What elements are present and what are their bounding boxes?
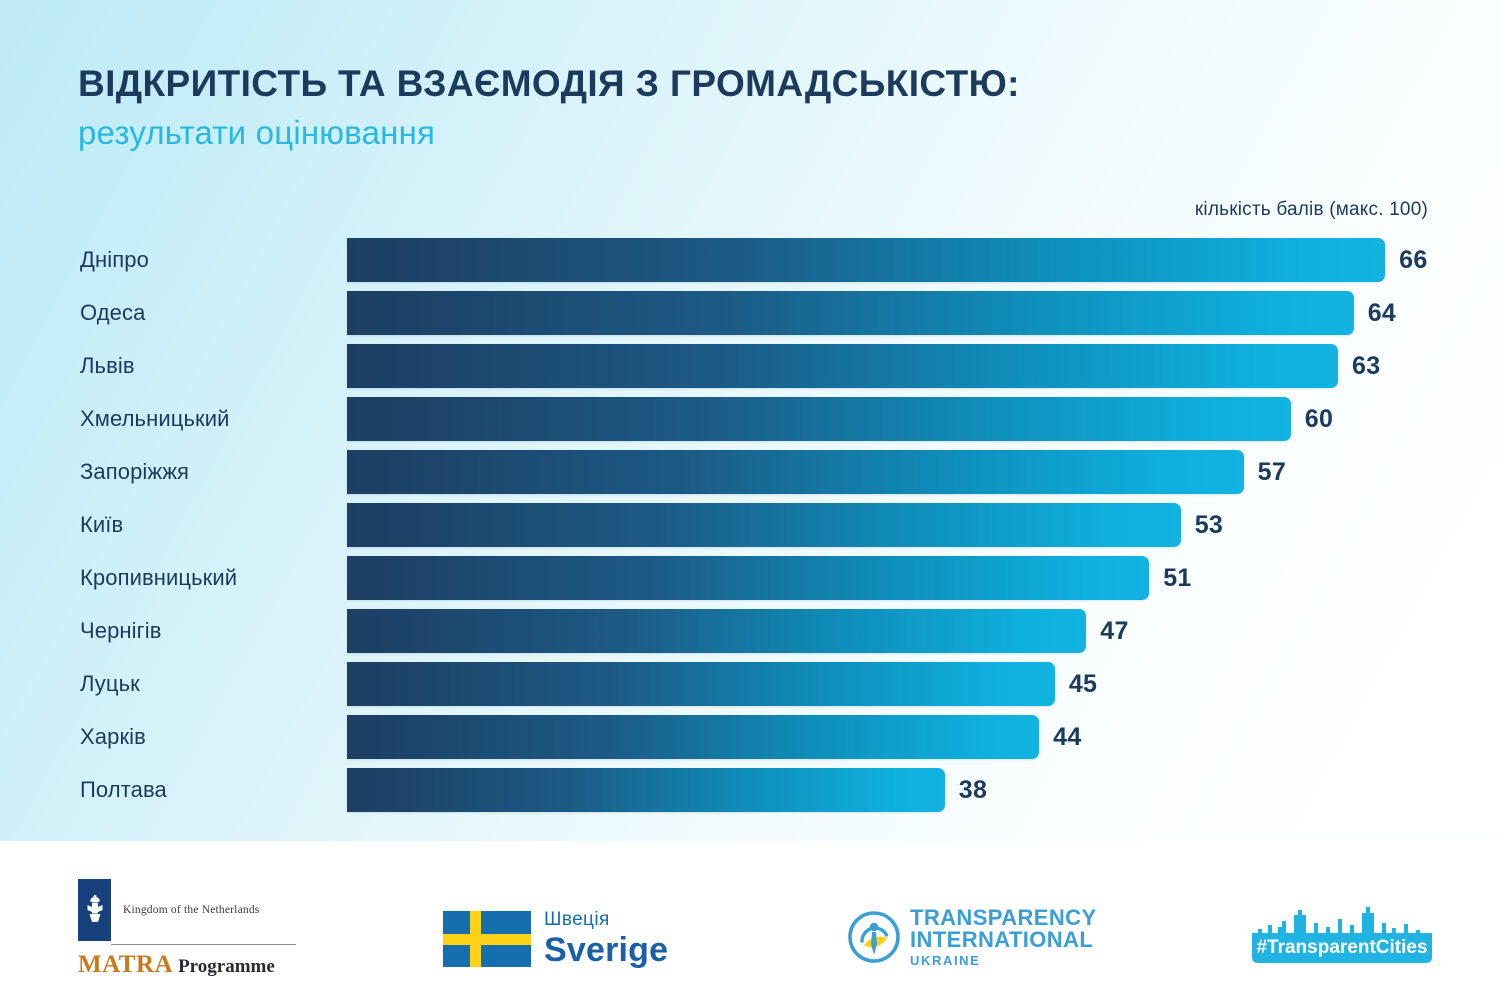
city-skyline-icon: #TransparentCities [1252,905,1432,963]
bar-value-label: 45 [1069,662,1097,706]
svg-text:#TransparentCities: #TransparentCities [1256,937,1427,958]
sweden-label-uk: Швеція [544,910,668,929]
bar-category-label: Львів [0,344,263,388]
bar-category-label: Київ [0,503,263,547]
chart-row: Одеса64 [0,291,1500,335]
bar-category-label: Запоріжжя [0,450,263,494]
chart-row: Запоріжжя57 [0,450,1500,494]
chart-row: Луцьк45 [0,662,1500,706]
bar [347,450,1244,494]
bar-track: 44 [347,715,1500,759]
bar [347,344,1338,388]
bar [347,715,1039,759]
logo-sweden: Швеція Sverige [443,910,668,967]
chart-row: Дніпро66 [0,238,1500,282]
netherlands-name: Kingdom of the Netherlands [123,904,259,916]
bar-category-label: Харків [0,715,263,759]
bar-track: 66 [347,238,1500,282]
bar-value-label: 66 [1399,238,1427,282]
bar-track: 45 [347,662,1500,706]
bar-value-label: 57 [1258,450,1286,494]
ti-line-ukraine: UKRAINE [910,954,1097,967]
logo-transparent-cities: #TransparentCities [1252,905,1432,963]
bar-track: 47 [347,609,1500,653]
bar-track: 38 [347,768,1500,812]
bar-category-label: Чернігів [0,609,263,653]
bar-category-label: Кропивницький [0,556,263,600]
matra-programme-label: Programme [178,956,275,977]
bar-value-label: 63 [1352,344,1380,388]
bar-value-label: 51 [1163,556,1191,600]
bar-value-label: 64 [1368,291,1396,335]
chart-row: Львів63 [0,344,1500,388]
bar-value-label: 60 [1305,397,1333,441]
bar [347,238,1385,282]
bar [347,291,1354,335]
bar-track: 63 [347,344,1500,388]
bar-value-label: 44 [1053,715,1081,759]
chart-row: Київ53 [0,503,1500,547]
bar [347,609,1086,653]
chart-row: Чернігів47 [0,609,1500,653]
page-title: ВІДКРИТІСТЬ ТА ВЗАЄМОДІЯ З ГРОМАДСЬКІСТЮ… [78,62,1418,106]
bar-track: 64 [347,291,1500,335]
infographic-poster: ВІДКРИТІСТЬ ТА ВЗАЄМОДІЯ З ГРОМАДСЬКІСТЮ… [0,0,1500,1001]
chart-row: Хмельницький60 [0,397,1500,441]
header: ВІДКРИТІСТЬ ТА ВЗАЄМОДІЯ З ГРОМАДСЬКІСТЮ… [78,62,1418,152]
bar [347,556,1149,600]
bar [347,503,1181,547]
bar-category-label: Хмельницький [0,397,263,441]
bar-track: 60 [347,397,1500,441]
footer-logos: Kingdom of the Netherlands MATRAProgramm… [0,841,1500,1001]
bar-track: 53 [347,503,1500,547]
bar [347,768,945,812]
bar-category-label: Луцьк [0,662,263,706]
logo-kingdom-of-netherlands: Kingdom of the Netherlands MATRAProgramm… [78,879,308,979]
bar [347,397,1291,441]
bar-category-label: Полтава [0,768,263,812]
axis-label-score: кількість балів (макс. 100) [1195,199,1428,221]
bar-category-label: Дніпро [0,238,263,282]
chart-row: Полтава38 [0,768,1500,812]
page-subtitle: результати оцінювання [78,114,1418,152]
logo-transparency-international: TRANSPARENCY INTERNATIONAL UKRAINE [848,907,1097,967]
netherlands-divider [111,944,296,945]
bar-track: 57 [347,450,1500,494]
bar-value-label: 53 [1195,503,1223,547]
chart-row: Кропивницький51 [0,556,1500,600]
netherlands-crest-icon [78,879,111,941]
transparency-international-icon [848,911,900,963]
matra-wordmark: MATRA [78,951,173,978]
sweden-flag-icon [443,911,531,967]
ti-line-transparency: TRANSPARENCY [910,907,1097,929]
bar-value-label: 47 [1100,609,1128,653]
bar-category-label: Одеса [0,291,263,335]
sweden-label-sv: Sverige [544,933,668,967]
chart-row: Харків44 [0,715,1500,759]
ti-line-international: INTERNATIONAL [910,929,1097,951]
bar-value-label: 38 [959,768,987,812]
bar-track: 51 [347,556,1500,600]
bar [347,662,1055,706]
bar-chart: Дніпро66Одеса64Львів63Хмельницький60Запо… [0,238,1500,821]
